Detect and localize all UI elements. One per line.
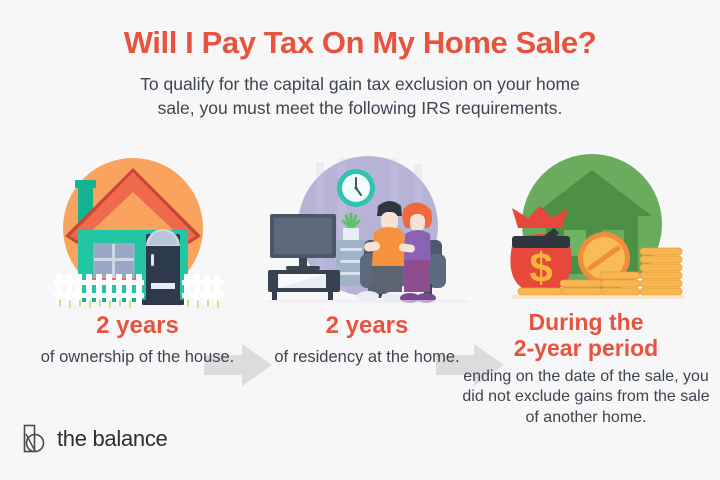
page-subtitle: To qualify for the capital gain tax excl… bbox=[125, 72, 595, 120]
step-1-caption: 2 years of ownership of the house. bbox=[30, 313, 245, 368]
illustration-row: $ bbox=[0, 150, 720, 320]
brand-logo-text: the balance bbox=[57, 426, 167, 452]
step-3-caption: During the 2-year period ending on the d… bbox=[462, 310, 710, 429]
brand-logo[interactable]: the balance bbox=[22, 424, 167, 454]
step-3-body: ending on the date of the sale, you did … bbox=[462, 367, 710, 429]
step-1-illustration bbox=[38, 150, 228, 320]
page-title: Will I Pay Tax On My Home Sale? bbox=[0, 26, 720, 60]
svg-text:$: $ bbox=[529, 244, 552, 291]
living-room-couple-icon bbox=[268, 150, 468, 320]
step-2-heading: 2 years bbox=[262, 313, 472, 340]
step-2-body: of residency at the home. bbox=[262, 347, 472, 368]
step-3-illustration: $ bbox=[492, 150, 692, 320]
balance-b-mark-icon bbox=[22, 424, 48, 454]
step-3-heading: During the 2-year period bbox=[462, 310, 710, 362]
infographic-header: Will I Pay Tax On My Home Sale? To quali… bbox=[0, 26, 720, 120]
money-bag-coins-icon: $ bbox=[492, 150, 692, 320]
step-2-caption: 2 years of residency at the home. bbox=[262, 313, 472, 368]
step-3-heading-line-1: During the bbox=[529, 309, 644, 335]
step-2-illustration bbox=[268, 150, 468, 320]
infographic-canvas: Will I Pay Tax On My Home Sale? To quali… bbox=[0, 0, 720, 480]
step-1-body: of ownership of the house. bbox=[30, 347, 245, 368]
house-with-fence-icon bbox=[38, 150, 228, 320]
step-1-heading: 2 years bbox=[30, 313, 245, 340]
step-3-heading-line-2: 2-year period bbox=[514, 335, 658, 361]
